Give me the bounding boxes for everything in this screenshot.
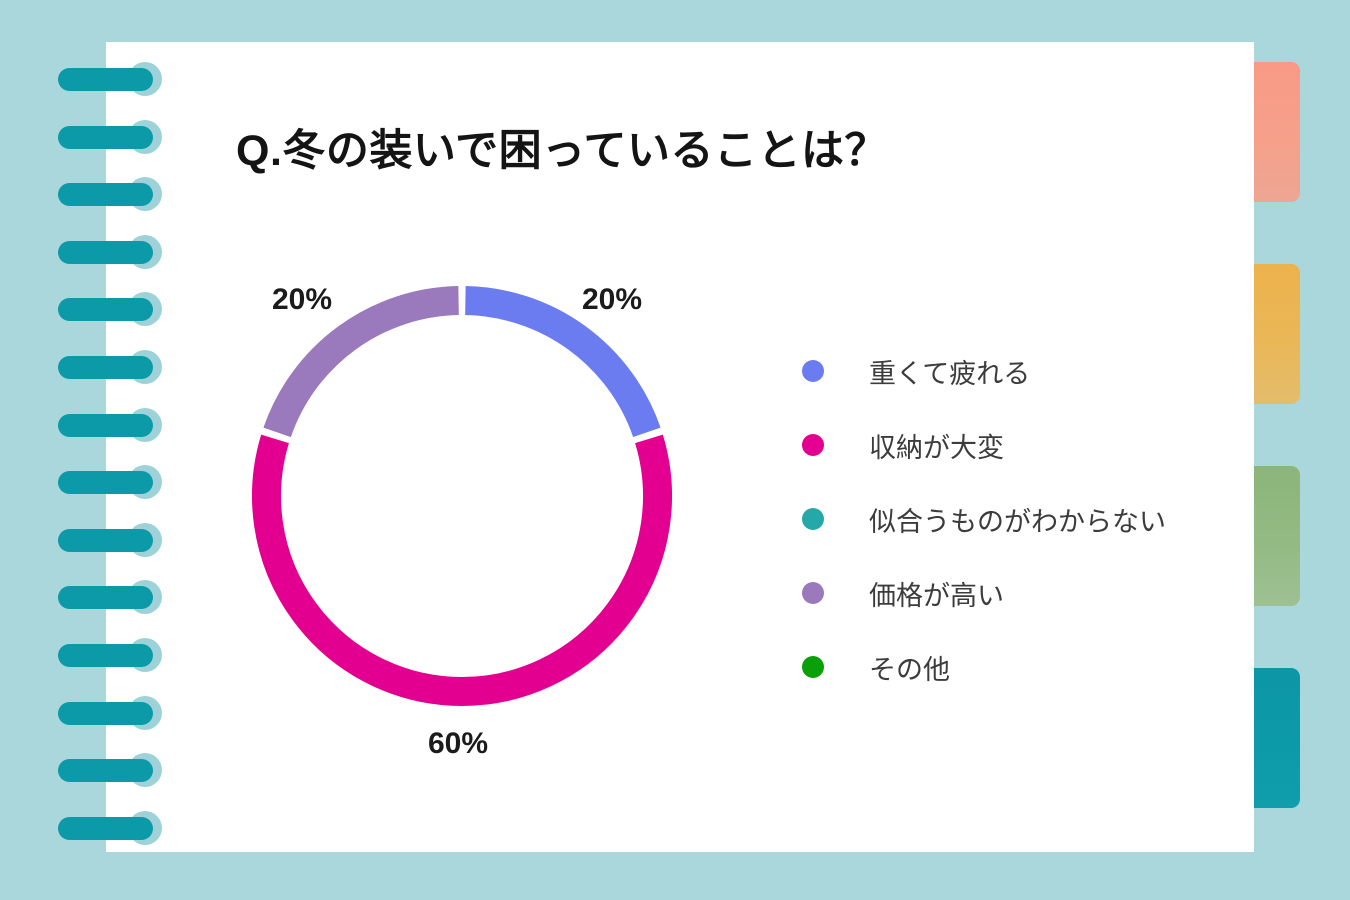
slide-canvas: Q.冬の装いで困っていることは？ 20% 20% 60% 重くて疲れる 収納が大… — [0, 0, 1350, 900]
legend-item-label: その他 — [869, 648, 950, 687]
side-tab-teal[interactable] — [1252, 668, 1300, 808]
binding-wire — [58, 68, 153, 91]
donut-segment[interactable] — [266, 439, 657, 692]
legend-item-label: 重くて疲れる — [869, 352, 1030, 391]
donut-chart-svg — [252, 286, 672, 706]
binding-wire — [58, 644, 153, 667]
side-tab-green[interactable] — [1252, 466, 1300, 606]
side-tab-coral[interactable] — [1252, 62, 1300, 202]
donut-segment[interactable] — [465, 301, 646, 433]
chart-legend: 重くて疲れる 収納が大変 似合うものがわからない 価格が高い その他 — [802, 334, 1202, 704]
binding-wire — [58, 529, 153, 552]
legend-swatch-icon — [802, 656, 824, 678]
legend-item[interactable]: 価格が高い — [802, 556, 1202, 630]
donut-segment[interactable] — [277, 301, 458, 433]
binding-wire — [58, 702, 153, 725]
legend-item[interactable]: 似合うものがわからない — [802, 482, 1202, 556]
binding-wire — [58, 414, 153, 437]
binding-wire — [58, 356, 153, 379]
legend-item[interactable]: 重くて疲れる — [802, 334, 1202, 408]
page-title: Q.冬の装いで困っていることは？ — [236, 116, 888, 178]
binding-wire — [58, 183, 153, 206]
legend-swatch-icon — [802, 434, 824, 456]
legend-item-label: 収納が大変 — [869, 426, 1004, 465]
data-label-storage: 60% — [428, 727, 488, 761]
binding-wire — [58, 126, 153, 149]
binding-wire — [58, 817, 153, 840]
binding-wire — [58, 586, 153, 609]
legend-item-label: 似合うものがわからない — [869, 500, 1166, 539]
binding-wire — [58, 241, 153, 264]
legend-swatch-icon — [802, 360, 824, 382]
legend-item[interactable]: その他 — [802, 630, 1202, 704]
legend-item-label: 価格が高い — [869, 574, 1004, 613]
data-label-price: 20% — [272, 283, 332, 317]
spiral-binding — [0, 0, 175, 900]
legend-swatch-icon — [802, 582, 824, 604]
binding-wire — [58, 471, 153, 494]
legend-swatch-icon — [802, 508, 824, 530]
legend-item[interactable]: 収納が大変 — [802, 408, 1202, 482]
binding-wire — [58, 298, 153, 321]
donut-chart — [252, 286, 672, 706]
binding-wire — [58, 759, 153, 782]
side-tab-amber[interactable] — [1252, 264, 1300, 404]
data-label-heavy: 20% — [582, 283, 642, 317]
